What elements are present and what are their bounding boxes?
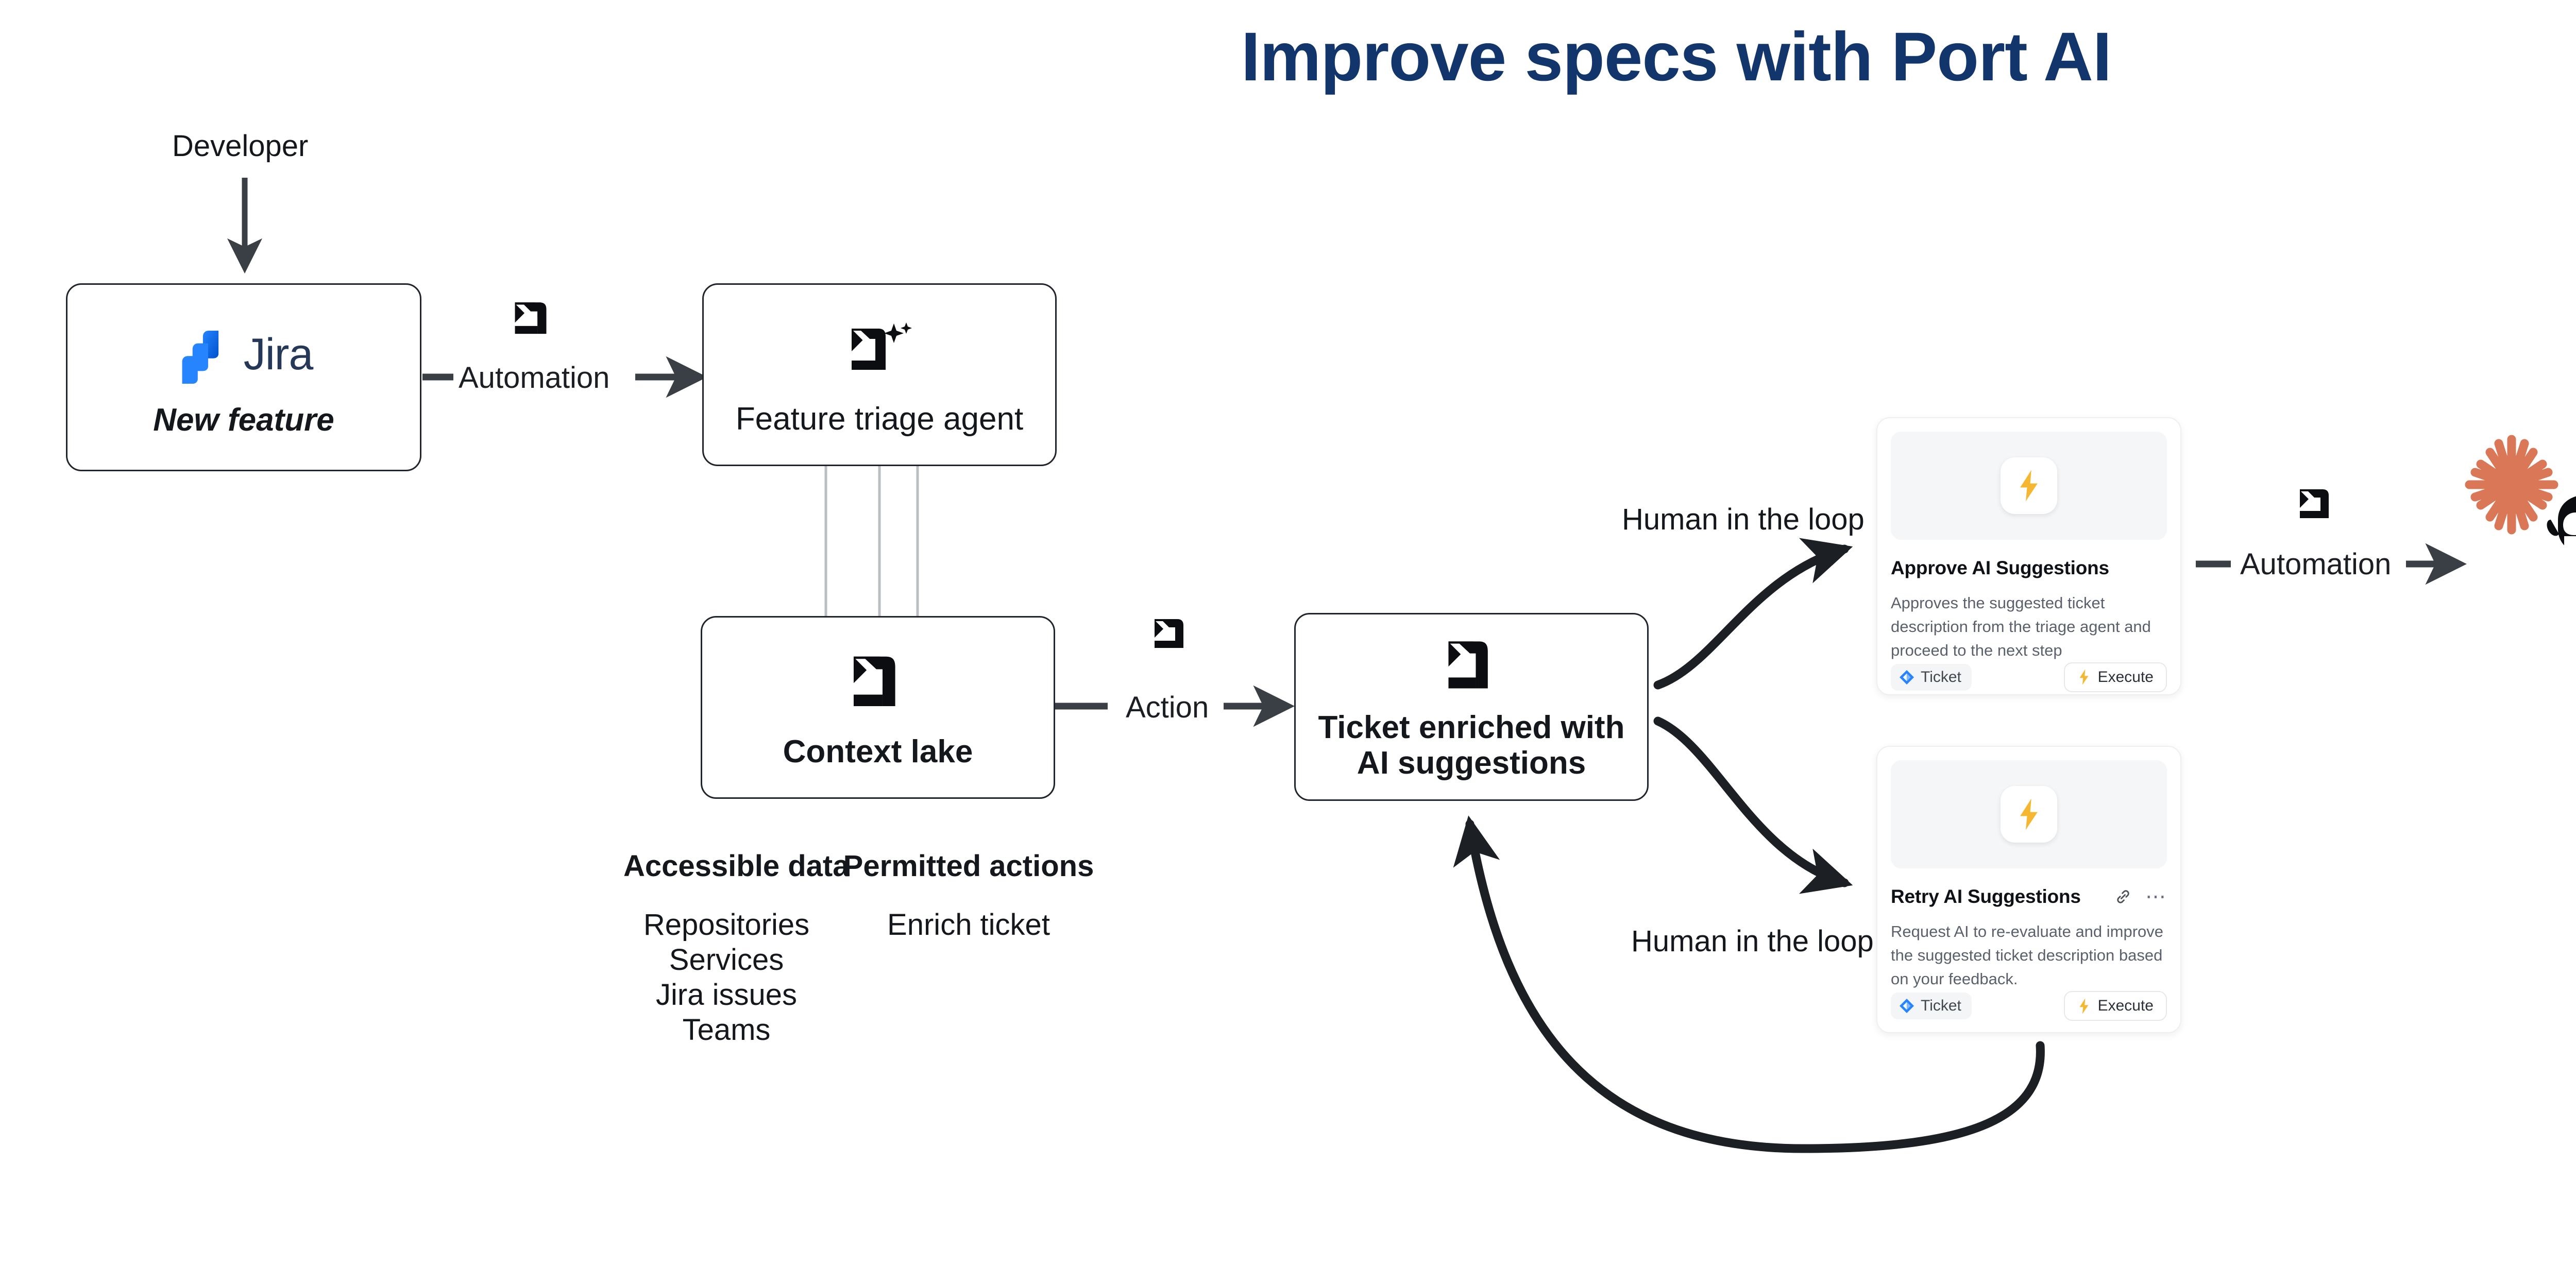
- edge-label-automation-right: Automation: [2240, 547, 2391, 581]
- chip-ticket-label-retry: Ticket: [1921, 997, 1961, 1015]
- permitted-actions-item-0: Enrich ticket: [788, 908, 1149, 942]
- node-ticket-enriched-label: Ticket enriched with AI suggestions: [1299, 710, 1643, 781]
- port-logo-icon-action: [1153, 618, 1185, 653]
- node-jira-label: New feature: [146, 402, 341, 438]
- accessible-data-item-2: Jira issues: [623, 978, 829, 1012]
- card-title-row-approve: Approve AI Suggestions: [1891, 557, 2167, 579]
- jira-wordmark: Jira: [244, 329, 313, 380]
- port-logo-icon-automation-right: [2298, 488, 2331, 523]
- connector-layer: Jira --> Automation --> Feature triage a…: [0, 0, 2576, 1266]
- chip-ticket-label-approve: Ticket: [1921, 669, 1961, 686]
- permitted-actions-heading: Permitted actions: [788, 849, 1149, 883]
- bolt-icon: [2077, 998, 2091, 1015]
- edge-label-human-in-loop-bottom: Human in the loop: [1631, 924, 1874, 959]
- port-logo-icon-context-lake: [849, 653, 907, 713]
- accessible-data-item-3: Teams: [623, 1013, 829, 1047]
- card-title-approve: Approve AI Suggestions: [1891, 557, 2109, 579]
- link-icon[interactable]: [2114, 888, 2132, 905]
- node-ticket-enriched[interactable]: Ticket enriched with AI suggestions: [1294, 613, 1649, 801]
- node-jira[interactable]: Jira New feature: [66, 283, 421, 471]
- card-title-retry: Retry AI Suggestions: [1891, 886, 2081, 908]
- bolt-tile-retry: [2001, 786, 2057, 843]
- execute-label-approve: Execute: [2098, 669, 2154, 686]
- node-context-lake-label: Context lake: [776, 734, 980, 769]
- jira-diamond-icon: [1899, 998, 1914, 1014]
- github-copilot-icon: [2547, 495, 2576, 559]
- node-feature-triage-agent-label: Feature triage agent: [728, 401, 1030, 437]
- claude-burst-icon: [2469, 439, 2554, 530]
- bolt-icon: [2077, 669, 2091, 686]
- chip-ticket-approve[interactable]: Ticket: [1891, 664, 1972, 691]
- jira-diamond-icon: [1899, 670, 1914, 685]
- more-horizontal-icon[interactable]: ⋯: [2145, 892, 2167, 902]
- card-retry-ai-suggestions[interactable]: Retry AI Suggestions ⋯ Request AI to re-…: [1876, 746, 2181, 1033]
- card-approve-ai-suggestions[interactable]: Approve AI Suggestions Approves the sugg…: [1876, 417, 2181, 695]
- ai-tools-cluster: [2452, 435, 2576, 595]
- arrow-ticket-to-approve-card: [1658, 549, 1844, 685]
- edge-label-action: Action: [1126, 690, 1209, 725]
- chip-ticket-retry[interactable]: Ticket: [1891, 993, 1972, 1019]
- arrow-ticket-to-retry-card: [1658, 721, 1844, 883]
- port-logo-icon-ticket-enriched: [1444, 638, 1499, 695]
- edge-label-automation-left: Automation: [459, 361, 609, 395]
- execute-button-approve[interactable]: Execute: [2064, 662, 2167, 692]
- bolt-tile-approve: [2001, 457, 2057, 514]
- edge-label-human-in-loop-top: Human in the loop: [1622, 502, 1865, 537]
- developer-label-top: Developer: [172, 129, 308, 163]
- execute-button-retry[interactable]: Execute: [2064, 991, 2167, 1021]
- connector-triage-to-context-lake: [826, 465, 918, 616]
- card-footer-retry: Ticket Execute: [1891, 991, 2167, 1021]
- port-ai-sparkle-icon: [846, 319, 912, 380]
- node-feature-triage-agent[interactable]: Feature triage agent: [702, 283, 1057, 466]
- jira-logo: Jira: [175, 326, 313, 384]
- port-logo-icon-automation-left: [513, 301, 549, 339]
- card-hero-retry: [1891, 760, 2167, 868]
- card-footer-approve: Ticket Execute: [1891, 662, 2167, 692]
- card-hero-approve: [1891, 432, 2167, 540]
- card-title-icons-retry: ⋯: [2114, 888, 2167, 905]
- execute-label-retry: Execute: [2098, 997, 2154, 1015]
- card-title-row-retry: Retry AI Suggestions ⋯: [1891, 886, 2167, 908]
- bolt-icon: [2015, 469, 2042, 503]
- card-description-retry: Request AI to re-evaluate and improve th…: [1891, 920, 2167, 991]
- accessible-data-item-1: Services: [623, 943, 829, 977]
- node-context-lake[interactable]: Context lake: [701, 616, 1055, 799]
- bolt-icon: [2015, 797, 2042, 831]
- card-description-approve: Approves the suggested ticket descriptio…: [1891, 591, 2167, 662]
- diagram-canvas: Improve specs with Port AI Jira -->: [0, 0, 2576, 1266]
- jira-chevrons-icon: [175, 326, 232, 384]
